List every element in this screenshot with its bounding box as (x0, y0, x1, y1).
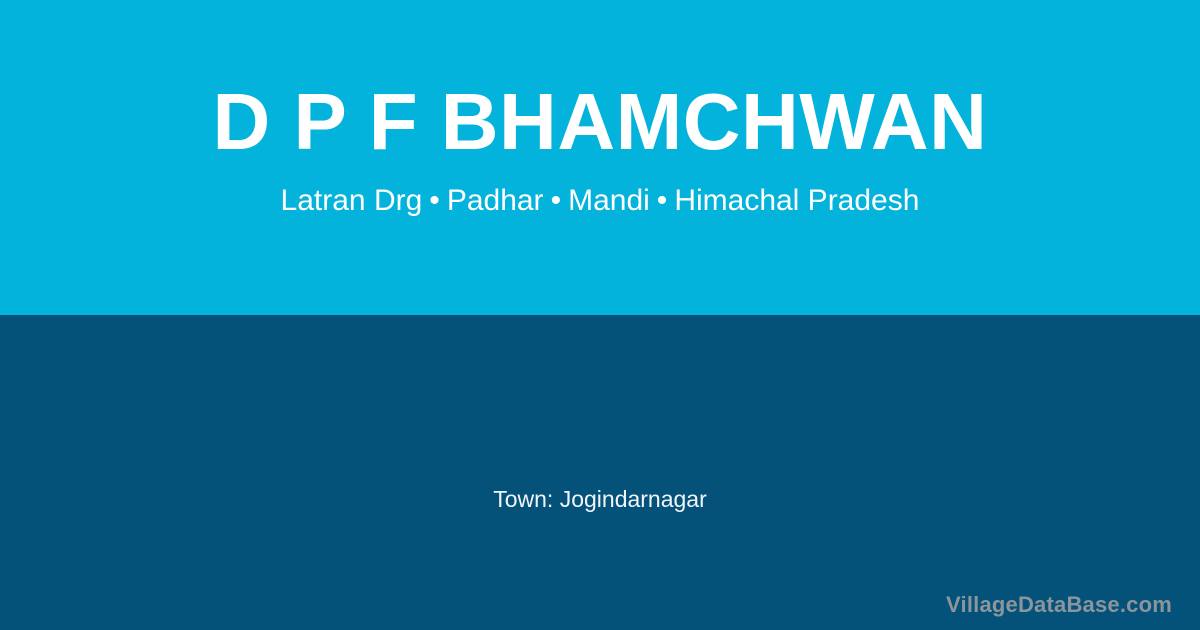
village-info-card: D P F BHAMCHWAN Latran Drg•Padhar•Mandi•… (0, 0, 1200, 630)
breadcrumb-item-block: Padhar (447, 184, 544, 217)
breadcrumb-separator-2: • (544, 183, 569, 219)
breadcrumb-item-village: Latran Drg (281, 184, 423, 217)
town-detail: Town: Jogindarnagar (493, 485, 707, 514)
breadcrumb-item-district: Mandi (568, 184, 650, 217)
detail-band: Town: Jogindarnagar VillageDataBase.com (0, 315, 1200, 630)
header-band: D P F BHAMCHWAN Latran Drg•Padhar•Mandi•… (0, 0, 1200, 315)
site-watermark: VillageDataBase.com (946, 592, 1172, 618)
page-title: D P F BHAMCHWAN (213, 82, 988, 162)
breadcrumb-separator-1: • (422, 183, 447, 219)
breadcrumb-item-state: Himachal Pradesh (674, 184, 919, 217)
location-breadcrumb: Latran Drg•Padhar•Mandi•Himachal Pradesh (281, 183, 920, 219)
breadcrumb-separator-3: • (650, 183, 675, 219)
